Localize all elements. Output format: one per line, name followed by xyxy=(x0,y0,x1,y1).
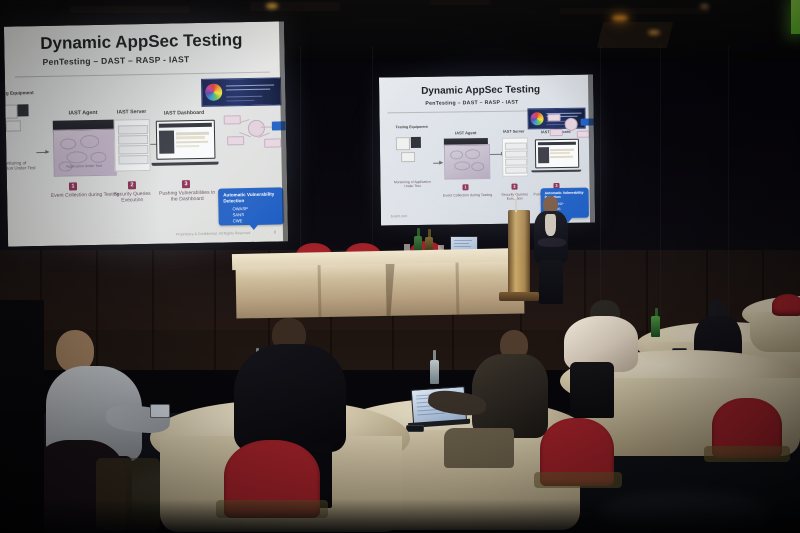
equipment-label: Testing Equipment xyxy=(4,90,35,96)
presenter-legs xyxy=(539,260,563,304)
iast-dashboard-caption: Pushing Vulnerabilities to the Dashboard xyxy=(157,191,217,204)
iast-server-right xyxy=(502,137,529,176)
panel-table-skirt xyxy=(236,261,525,318)
logo-wheel-icon-right xyxy=(530,112,543,125)
left-projection-screen: Dynamic AppSec Testing PenTesting – DAST… xyxy=(4,21,288,246)
attendee-with-laptop-legs xyxy=(444,428,514,468)
audience-chair-center-right-frame xyxy=(704,446,790,462)
iast-server-label: IAST Server xyxy=(112,109,152,116)
conference-room-photo: Dynamic AppSec Testing PenTesting – DAST… xyxy=(0,0,800,533)
slide-title-right: Dynamic AppSec Testing xyxy=(421,84,540,97)
callout-item-0: OWASP xyxy=(232,206,248,211)
foreground-shadow-bottom xyxy=(0,499,800,533)
stage-light-4 xyxy=(700,4,709,9)
equipment-label-right: Testing Equipment xyxy=(392,125,432,130)
attendee-white-shirt xyxy=(556,300,642,418)
presenter-arm-folded xyxy=(538,238,566,247)
slide-surface-left: Dynamic AppSec Testing PenTesting – DAST… xyxy=(4,21,288,246)
stage-light-3 xyxy=(648,30,660,35)
lectern xyxy=(508,210,530,296)
iast-dashboard-laptop xyxy=(156,120,214,166)
iast-hub-group-right xyxy=(547,111,591,140)
callout-title: Automatic Vulnerability Detection xyxy=(223,191,279,203)
step-badge-1-right: 1 xyxy=(462,184,468,190)
slide-subtitle: PenTesting – DAST – RASP - IAST xyxy=(43,54,190,67)
callout-item-1: SANS xyxy=(233,212,245,217)
iast-agent-cube-right xyxy=(444,138,489,180)
iast-server xyxy=(114,119,151,172)
slide-brand-right: bosch.com xyxy=(391,214,407,218)
testing-equipment-group-right: Testing Equipment Monitoring of Applicat… xyxy=(392,125,433,206)
equipment-caption-right: Monitoring of Application Under Test xyxy=(389,181,435,189)
iast-server-label-right: IAST Server xyxy=(498,129,530,133)
attendee-dark-suit-torso xyxy=(234,344,346,452)
equipment-caption: Monitoring of Application Under Test xyxy=(4,160,37,171)
conference-logo-badge xyxy=(201,77,282,107)
iast-dashboard-laptop-right xyxy=(535,139,577,173)
iast-agent-caption-right: Event Collection during Testing xyxy=(441,193,495,198)
step-badge-2-right: 2 xyxy=(511,184,517,190)
smartphone xyxy=(150,404,170,418)
attendee-with-laptop-torso xyxy=(472,354,548,438)
callout-item-2: CWE xyxy=(233,218,243,223)
iast-agent-label-right: IAST Agent xyxy=(444,130,488,136)
audience-chair-far-right xyxy=(772,294,800,316)
slide-title: Dynamic AppSec Testing xyxy=(40,30,243,54)
step-badge-3: 3 xyxy=(182,180,190,188)
step-badge-1: 1 xyxy=(69,182,77,190)
slide-subtitle-right: PenTesting – DAST – RASP - IAST xyxy=(425,100,518,107)
audience-chair-front-center-frame xyxy=(534,472,622,488)
iast-agent-label: IAST Agent xyxy=(53,110,114,117)
stage-light-1 xyxy=(266,3,278,9)
microphone-stem xyxy=(515,198,517,212)
bottle-3 xyxy=(651,316,660,337)
presenter xyxy=(528,196,574,306)
logo-wheel-icon xyxy=(205,84,222,101)
stage-light-2 xyxy=(612,15,628,21)
slide-page-number: 8 xyxy=(274,230,276,235)
bottle-4 xyxy=(430,360,439,384)
slide-footer: Proprietary & Confidential. All Rights R… xyxy=(176,231,251,236)
exit-light-icon xyxy=(791,0,800,34)
iast-hub-group xyxy=(224,109,287,150)
phone-near-laptop xyxy=(406,425,424,432)
presenter-shirt xyxy=(545,214,556,236)
round-table-far-right-cloth xyxy=(750,312,800,352)
iast-server-caption: Security Queries Execution xyxy=(108,192,156,204)
vulnerability-callout: Automatic Vulnerability Detection OWASP … xyxy=(218,187,284,225)
testing-equipment-group: Testing Equipment Monitoring of Applicat… xyxy=(4,90,37,201)
microphone-icon xyxy=(513,195,517,199)
attendee-white-shirt-legs xyxy=(570,362,614,418)
step-badge-2: 2 xyxy=(128,181,136,189)
iast-dashboard-label: IAST Dashboard xyxy=(156,110,213,117)
